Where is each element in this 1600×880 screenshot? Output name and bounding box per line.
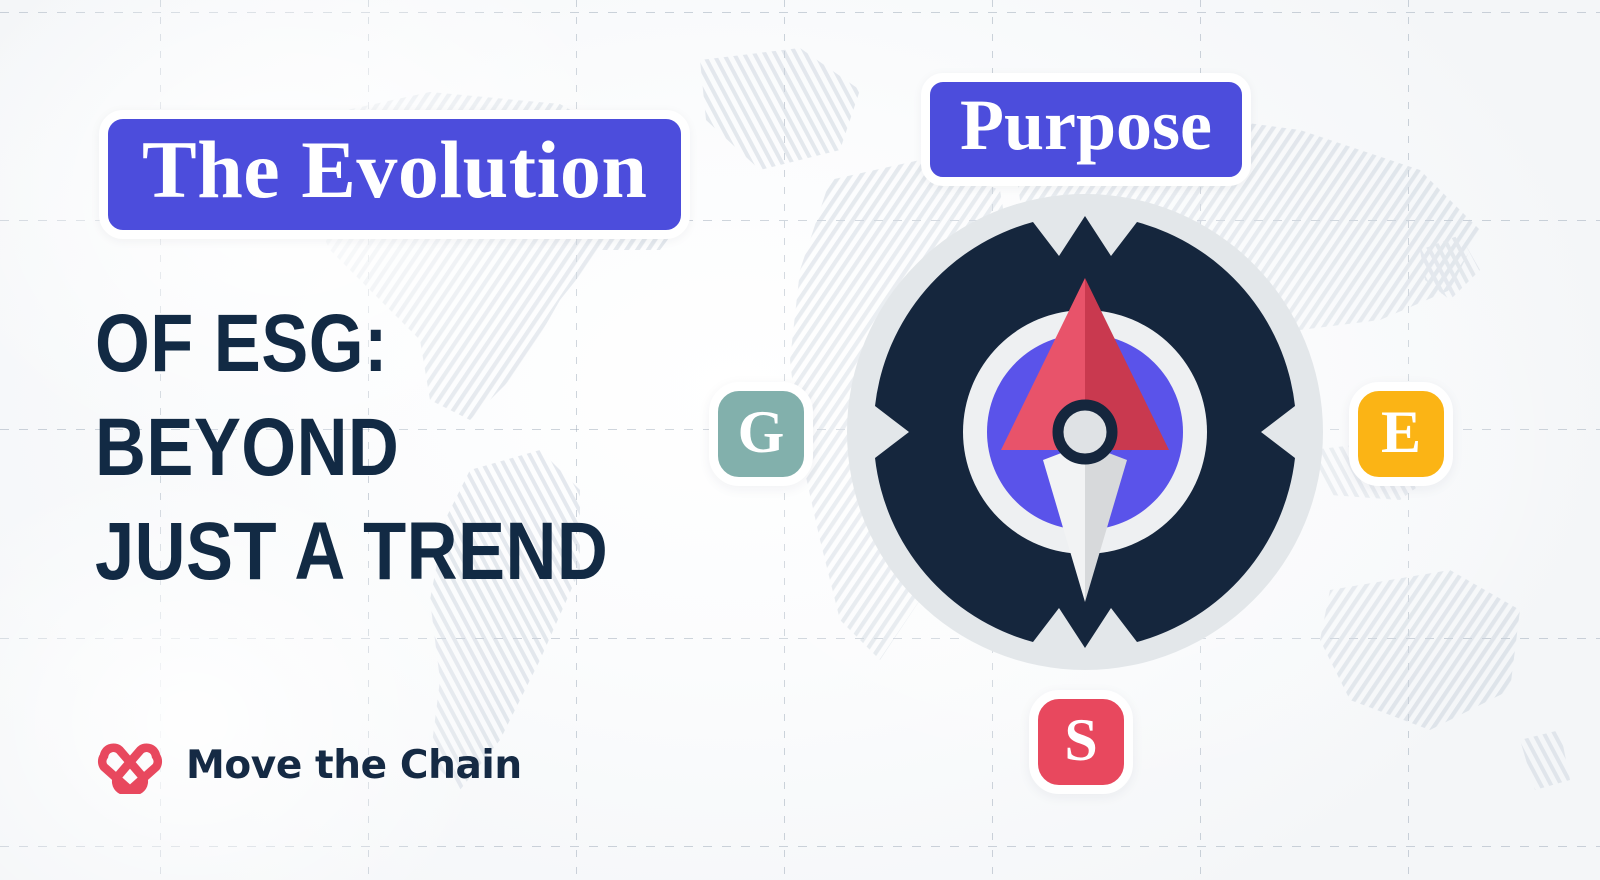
compass-icon [845, 192, 1325, 672]
headline-line-2: BEYOND [95, 396, 697, 500]
esg-tile-social[interactable]: S [1029, 690, 1133, 794]
headline-column: The Evolution OF ESG: BEYOND JUST A TREN… [0, 0, 820, 880]
esg-letter-e: E [1381, 402, 1421, 462]
esg-letter-g: G [738, 402, 785, 462]
brand-logo[interactable]: Move the Chain [92, 736, 522, 794]
esg-tile-environmental[interactable]: E [1349, 382, 1453, 486]
headline-line-3: JUST A TREND [95, 500, 697, 604]
page-title: OF ESG: BEYOND JUST A TREND [95, 292, 795, 604]
esg-letter-s: S [1064, 710, 1097, 770]
compass-illustration [845, 192, 1325, 672]
headline-line-1: OF ESG: [95, 292, 697, 396]
compass-hub [1058, 405, 1112, 459]
purpose-badge: Purpose [921, 73, 1251, 186]
esg-tile-governance[interactable]: G [709, 382, 813, 486]
eyebrow-badge: The Evolution [99, 110, 690, 239]
brand-name: Move the Chain [186, 743, 522, 788]
purpose-label: Purpose [960, 86, 1212, 165]
chain-link-heart-icon [92, 736, 168, 794]
eyebrow-label: The Evolution [142, 126, 647, 215]
poster-canvas: The Evolution OF ESG: BEYOND JUST A TREN… [0, 0, 1600, 880]
